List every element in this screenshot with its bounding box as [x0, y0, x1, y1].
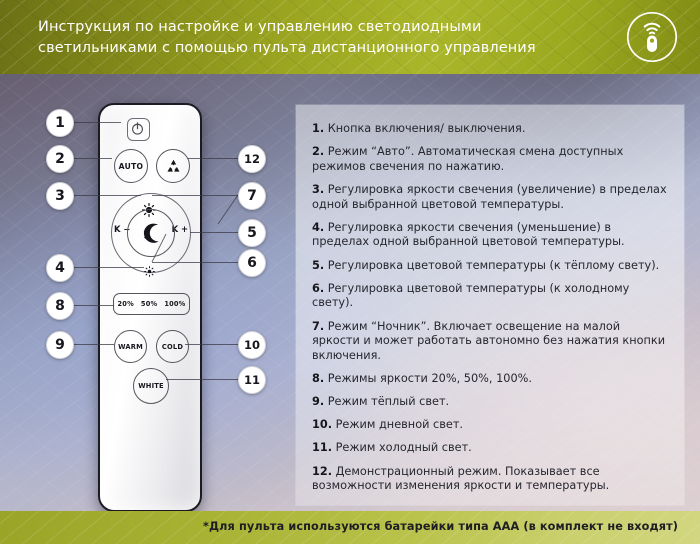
legend-item-number: 5.: [312, 259, 324, 272]
legend-item-number: 7.: [312, 320, 324, 333]
legend-item: 7. Режим “Ночник”. Включает освещение на…: [312, 320, 670, 364]
legend-item: 3. Регулировка яркости свечения (увеличе…: [312, 183, 670, 212]
legend-item-number: 11.: [312, 441, 332, 454]
battery-note: *Для пульта используются батарейки типа …: [203, 520, 678, 533]
brightness-level-50[interactable]: 50%: [141, 300, 157, 308]
warm-light-button[interactable]: WARM: [114, 330, 147, 363]
legend-item-text: Регулировка яркости свечения (увеличение…: [312, 183, 667, 211]
leader-line-1: [66, 122, 121, 123]
remote-control-signal-icon: [626, 11, 678, 63]
callout-2[interactable]: 2: [46, 145, 74, 173]
recycle-loop-icon: [164, 157, 183, 176]
callout-1[interactable]: 1: [46, 109, 74, 137]
leader-line-10: [185, 344, 238, 345]
callout-5[interactable]: 5: [238, 219, 266, 247]
auto-button-label: AUTO: [119, 162, 144, 171]
infographic-page: Инструкция по настройке и управлению све…: [0, 0, 700, 544]
callout-4[interactable]: 4: [46, 254, 74, 282]
legend-item-number: 2.: [312, 145, 324, 158]
legend-item-text: Режим “Ночник”. Включает освещение на ма…: [312, 320, 665, 362]
legend-item: 2. Режим “Авто”. Автоматическая смена до…: [312, 145, 670, 174]
legend-item: 5. Регулировка цветовой температуры (к т…: [312, 259, 670, 274]
legend-item: 8. Режимы яркости 20%, 50%, 100%.: [312, 372, 670, 387]
brightness-levels-bar[interactable]: 20% 50% 100%: [113, 293, 190, 315]
callout-6[interactable]: 6: [238, 249, 266, 277]
white-button-label: WHITE: [138, 382, 164, 390]
footer-bar: *Для пульта используются батарейки типа …: [0, 511, 700, 544]
callout-11[interactable]: 11: [238, 366, 266, 394]
legend-item-number: 10.: [312, 418, 332, 431]
legend-item: 4. Регулировка яркости свечения (уменьше…: [312, 221, 670, 250]
legend-item-text: Режим “Авто”. Автоматическая смена досту…: [312, 145, 623, 173]
legend-item: 9. Режим тёплый свет.: [312, 395, 670, 410]
legend-item-number: 1.: [312, 122, 324, 135]
legend-item-number: 12.: [312, 465, 332, 478]
callout-10[interactable]: 10: [238, 331, 266, 359]
legend-item-number: 6.: [312, 282, 324, 295]
callout-7[interactable]: 7: [238, 182, 266, 210]
legend-item: 11. Режим холодный свет.: [312, 441, 670, 456]
legend-item-text: Режимы яркости 20%, 50%, 100%.: [324, 372, 532, 385]
legend-item-number: 9.: [312, 395, 324, 408]
cold-button-label: COLD: [162, 343, 183, 351]
legend-item-text: Режим тёплый свет.: [324, 395, 449, 408]
cold-light-button[interactable]: COLD: [156, 330, 189, 363]
callout-9[interactable]: 9: [46, 331, 74, 359]
legend-item-text: Кнопка включения/ выключения.: [324, 122, 525, 135]
legend-item-text: Регулировка цветовой температуры (к тёпл…: [324, 259, 659, 272]
leader-line-11: [166, 379, 238, 380]
legend-item: 1. Кнопка включения/ выключения.: [312, 122, 670, 137]
legend-item-text: Регулировка цветовой температуры (к холо…: [312, 282, 629, 310]
remote-control-body: AUTO: [98, 103, 202, 512]
demo-mode-button[interactable]: [156, 149, 190, 183]
header-bar: Инструкция по настройке и управлению све…: [0, 0, 700, 74]
leader-line-elbows: [120, 190, 250, 280]
callout-8[interactable]: 8: [46, 292, 74, 320]
callout-3[interactable]: 3: [46, 182, 74, 210]
legend-item: 6. Регулировка цветовой температуры (к х…: [312, 282, 670, 311]
legend-item: 12. Демонстрационный режим. Показывает в…: [312, 465, 670, 494]
page-title: Инструкция по настройке и управлению све…: [38, 17, 578, 59]
legend-list: 1. Кнопка включения/ выключения.2. Режим…: [312, 122, 670, 502]
legend-item-number: 8.: [312, 372, 324, 385]
brightness-level-100[interactable]: 100%: [164, 300, 185, 308]
callout-12[interactable]: 12: [238, 145, 266, 173]
warm-button-label: WARM: [118, 343, 143, 351]
legend-item: 10. Режим дневной свет.: [312, 418, 670, 433]
brightness-level-20[interactable]: 20%: [118, 300, 134, 308]
legend-item-text: Демонстрационный режим. Показывает все в…: [312, 465, 609, 493]
legend-panel: 1. Кнопка включения/ выключения.2. Режим…: [296, 105, 684, 505]
white-light-button[interactable]: WHITE: [133, 368, 169, 404]
legend-item-number: 4.: [312, 221, 324, 234]
leader-line-12: [188, 158, 238, 159]
legend-item-text: Режим холодный свет.: [332, 441, 472, 454]
legend-item-text: Регулировка яркости свечения (уменьшение…: [312, 221, 625, 249]
auto-mode-button[interactable]: AUTO: [114, 149, 148, 183]
power-button[interactable]: [127, 118, 150, 141]
legend-item-text: Режим дневной свет.: [332, 418, 463, 431]
legend-item-number: 3.: [312, 183, 324, 196]
